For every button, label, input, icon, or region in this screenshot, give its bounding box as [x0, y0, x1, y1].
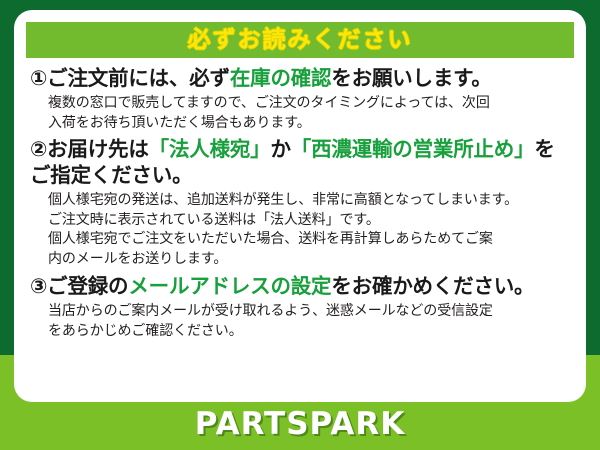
notice-item-3-heading-part-1: ③ご登録の: [30, 274, 128, 298]
notice-card: 必ずお読みください ①ご注文前には、必ず在庫の確認をお願いします。 複数の窓口で…: [14, 10, 586, 402]
notice-item-3-heading: ③ご登録のメールアドレスの設定をお確かめください。: [30, 274, 570, 300]
notice-item-2-body-line-2: ご注文時に表示されている送料は「法人送料」です。: [48, 211, 570, 231]
notice-item-2-body-line-4: 内のメールをお送りします。: [48, 250, 570, 270]
notice-item-2-heading-highlight-1: 「法人様宛」: [149, 137, 271, 161]
notice-item-1-heading-part-3: をお願いします。: [331, 66, 491, 90]
notice-item-list: ①ご注文前には、必ず在庫の確認をお願いします。 複数の窓口で販売してますので、ご…: [26, 66, 574, 342]
notice-item-2-heading-part-1: ②お届け先は: [30, 137, 149, 161]
notice-item-1: ①ご注文前には、必ず在庫の確認をお願いします。 複数の窓口で販売してますので、ご…: [30, 66, 570, 133]
notice-item-3-body-line-1: 当店からのご案内メールが受け取れるよう、迷惑メールなどの受信設定: [48, 302, 570, 322]
notice-item-1-body-line-2: 入荷をお待ち頂いただく場合もあります。: [48, 114, 570, 134]
notice-item-1-heading: ①ご注文前には、必ず在庫の確認をお願いします。: [30, 66, 570, 92]
notice-item-2-heading: ②お届け先は「法人様宛」か「西濃運輸の営業所止め」をご指定ください。: [30, 137, 570, 188]
page-title: 必ずお読みください: [188, 29, 413, 52]
notice-item-1-heading-highlight: 在庫の確認: [230, 66, 332, 90]
notice-item-2: ②お届け先は「法人様宛」か「西濃運輸の営業所止め」をご指定ください。 個人様宅宛…: [30, 137, 570, 270]
notice-title-bar: 必ずお読みください: [26, 22, 574, 58]
notice-item-3-heading-part-3: をお確かめください。: [331, 274, 534, 298]
notice-poster: 必ずお読みください ①ご注文前には、必ず在庫の確認をお願いします。 複数の窓口で…: [0, 0, 600, 450]
notice-item-1-heading-part-1: ①ご注文前には、必ず: [30, 66, 230, 90]
brand-footer: PARTSPARK: [0, 406, 600, 442]
notice-item-3: ③ご登録のメールアドレスの設定をお確かめください。 当店からのご案内メールが受け…: [30, 274, 570, 341]
brand-logo-text: PARTSPARK: [195, 406, 406, 442]
notice-item-3-body: 当店からのご案内メールが受け取れるよう、迷惑メールなどの受信設定 をあらかじめご…: [30, 302, 570, 342]
notice-item-2-heading-highlight-2: 「西濃運輸の営業所止め」: [291, 137, 535, 161]
notice-item-2-body-line-3: 個人様宅宛でご注文をいただいた場合、送料を再計算しあらためてご案: [48, 230, 570, 250]
notice-item-2-body-line-1: 個人様宅宛の発送は、追加送料が発生し、非常に高額となってしまいます。: [48, 191, 570, 211]
notice-item-3-heading-highlight: メールアドレスの設定: [128, 274, 331, 298]
notice-item-3-body-line-2: をあらかじめご確認ください。: [48, 322, 570, 342]
notice-item-1-body-line-1: 複数の窓口で販売してますので、ご注文のタイミングによっては、次回: [48, 94, 570, 114]
notice-item-2-body: 個人様宅宛の発送は、追加送料が発生し、非常に高額となってしまいます。 ご注文時に…: [30, 191, 570, 271]
notice-item-1-body: 複数の窓口で販売してますので、ご注文のタイミングによっては、次回 入荷をお待ち頂…: [30, 94, 570, 134]
notice-item-2-heading-part-3: か: [270, 137, 290, 161]
